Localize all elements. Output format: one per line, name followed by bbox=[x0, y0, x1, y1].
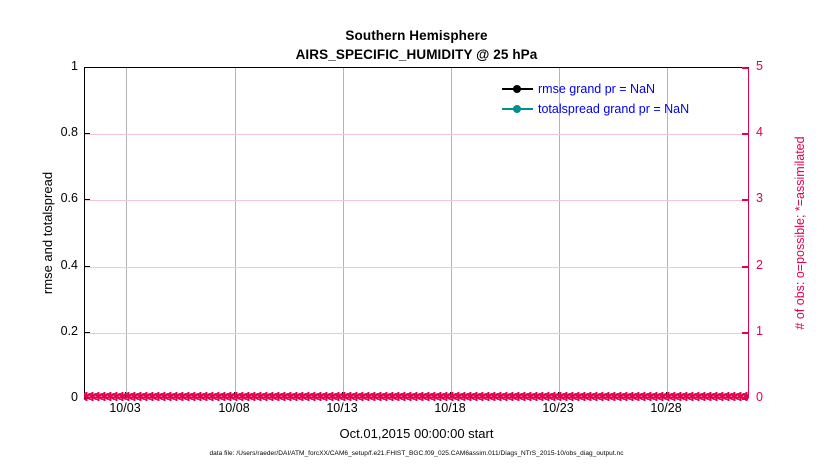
x-axis-tick bbox=[450, 392, 451, 398]
x-gridline bbox=[667, 68, 668, 397]
y-axis-right-tick-label: 3 bbox=[756, 191, 763, 205]
legend-item-rmse: rmse grand pr = NaN bbox=[502, 80, 689, 97]
y-axis-right-label: # of obs: o=possible; *=assimilated bbox=[793, 136, 807, 329]
chart-title-block: Southern Hemisphere AIRS_SPECIFIC_HUMIDI… bbox=[84, 26, 749, 64]
y-axis-left-tick-label: 0.8 bbox=[61, 125, 78, 139]
y-gridline bbox=[85, 267, 748, 268]
x-gridline bbox=[235, 68, 236, 397]
x-axis-tick-label: 10/03 bbox=[109, 401, 140, 415]
chart-figure: Southern Hemisphere AIRS_SPECIFIC_HUMIDI… bbox=[0, 0, 830, 470]
y-gridline bbox=[85, 200, 748, 201]
y-axis-left-tick bbox=[84, 67, 90, 68]
y-axis-left-tick bbox=[84, 133, 90, 134]
x-axis-tick bbox=[342, 392, 343, 398]
page-title: Southern Hemisphere bbox=[84, 26, 749, 45]
x-axis-tick-label: 10/08 bbox=[218, 401, 249, 415]
y-axis-right-tick-label: 4 bbox=[756, 125, 763, 139]
y-axis-left-label: rmse and totalspread bbox=[40, 171, 55, 293]
x-axis-label: Oct.01,2015 00:00:00 start bbox=[84, 426, 749, 441]
y-axis-left-tick-label: 0.6 bbox=[61, 191, 78, 205]
x-gridline bbox=[451, 68, 452, 397]
x-gridline bbox=[559, 68, 560, 397]
y-axis-right-tick bbox=[742, 398, 748, 400]
y-axis-right-tick bbox=[742, 199, 748, 201]
legend-marker-rmse-icon bbox=[502, 83, 533, 95]
y-gridline bbox=[85, 134, 748, 135]
y-axis-left-tick-label: 0.2 bbox=[61, 324, 78, 338]
y-axis-left-tick bbox=[84, 398, 90, 399]
y-axis-left-tick bbox=[84, 332, 90, 333]
y-axis-left-tick-label: 0.4 bbox=[61, 258, 78, 272]
x-axis-tick bbox=[234, 392, 235, 398]
x-axis-tick-label: 10/28 bbox=[650, 401, 681, 415]
x-axis-tick bbox=[666, 392, 667, 398]
legend-marker-totalspread-icon bbox=[502, 103, 533, 115]
y-gridline bbox=[85, 333, 748, 334]
x-axis-tick-label: 10/13 bbox=[326, 401, 357, 415]
y-axis-right-tick-label: 0 bbox=[756, 390, 763, 404]
legend-item-totalspread: totalspread grand pr = NaN bbox=[502, 100, 689, 117]
x-axis-tick bbox=[558, 392, 559, 398]
y-axis-left-tick-label: 0 bbox=[71, 390, 78, 404]
chart-legend: rmse grand pr = NaN totalspread grand pr… bbox=[502, 80, 689, 117]
legend-label-totalspread: totalspread grand pr = NaN bbox=[538, 102, 689, 116]
y-axis-right-tick-label: 1 bbox=[756, 324, 763, 338]
legend-label-rmse: rmse grand pr = NaN bbox=[538, 82, 655, 96]
chart-subtitle: AIRS_SPECIFIC_HUMIDITY @ 25 hPa bbox=[84, 45, 749, 64]
y-axis-left-tick bbox=[84, 199, 90, 200]
y-axis-left-tick bbox=[84, 266, 90, 267]
y-axis-right-tick bbox=[742, 133, 748, 135]
x-axis-tick-label: 10/23 bbox=[542, 401, 573, 415]
data-file-caption: data file: /Users/raeder/DAI/ATM_forcXX/… bbox=[84, 450, 749, 457]
x-axis-tick bbox=[125, 392, 126, 398]
y-axis-right-tick bbox=[742, 332, 748, 334]
x-gridline bbox=[126, 68, 127, 397]
y-axis-right-tick bbox=[742, 266, 748, 268]
y-axis-left-tick-label: 1 bbox=[71, 59, 78, 73]
x-axis-tick-label: 10/18 bbox=[434, 401, 465, 415]
y-axis-right-tick-label: 2 bbox=[756, 258, 763, 272]
y-axis-right-tick bbox=[742, 67, 748, 69]
x-gridline bbox=[343, 68, 344, 397]
y-axis-right-tick-label: 5 bbox=[756, 59, 763, 73]
